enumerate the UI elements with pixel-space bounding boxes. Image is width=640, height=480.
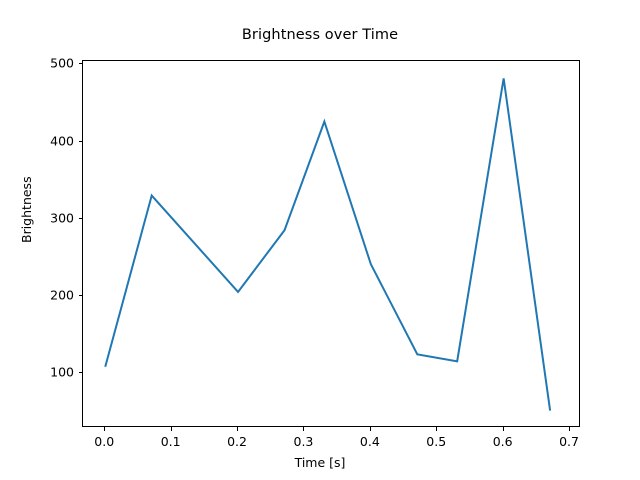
y-tick-label: 100 xyxy=(0,364,74,379)
brightness-line-series xyxy=(105,78,550,410)
y-tick-label: 200 xyxy=(0,287,74,302)
plot-canvas xyxy=(83,61,581,428)
chart-title: Brightness over Time xyxy=(0,27,640,43)
x-tick-label: 0.1 xyxy=(161,434,181,449)
x-tick-label: 0.0 xyxy=(94,434,114,449)
y-tick-label: 400 xyxy=(0,133,74,148)
chart-figure: Brightness over Time Brightness Time [s]… xyxy=(0,0,640,480)
x-tick-label: 0.3 xyxy=(293,434,313,449)
x-tick-label: 0.6 xyxy=(493,434,513,449)
x-tick-label: 0.5 xyxy=(426,434,446,449)
plot-axes-area xyxy=(82,60,580,427)
x-tick-label: 0.4 xyxy=(360,434,380,449)
y-tick-label: 500 xyxy=(0,56,74,71)
x-tick-label: 0.2 xyxy=(227,434,247,449)
x-axis-label: Time [s] xyxy=(0,455,640,470)
x-tick-label: 0.7 xyxy=(559,434,579,449)
y-tick-label: 300 xyxy=(0,210,74,225)
